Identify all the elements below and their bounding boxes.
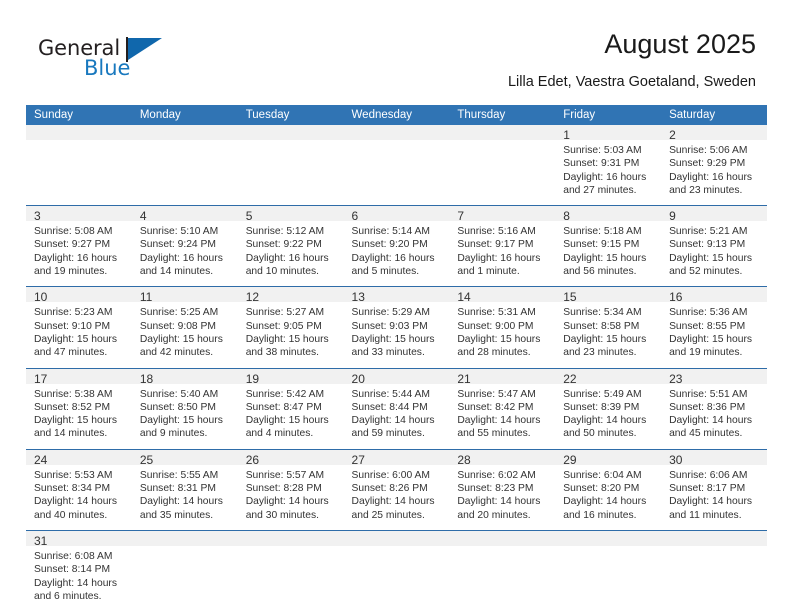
day-details: Sunrise: 5:16 AMSunset: 9:17 PMDaylight:… — [449, 221, 555, 286]
day-details: Sunrise: 5:36 AMSunset: 8:55 PMDaylight:… — [661, 302, 767, 367]
daylight-text-line1: Daylight: 14 hours — [352, 414, 444, 427]
sunset-text: Sunset: 8:34 PM — [34, 482, 126, 495]
day-details: Sunrise: 6:06 AMSunset: 8:17 PMDaylight:… — [661, 465, 767, 530]
daylight-text-line1: Daylight: 16 hours — [352, 252, 444, 265]
calendar-day-cell[interactable]: 28Sunrise: 6:02 AMSunset: 8:23 PMDayligh… — [449, 449, 555, 530]
calendar-day-cell[interactable]: 3Sunrise: 5:08 AMSunset: 9:27 PMDaylight… — [26, 206, 132, 287]
sunrise-text: Sunrise: 5:53 AM — [34, 469, 126, 482]
daylight-text-line1: Daylight: 14 hours — [246, 495, 338, 508]
sunset-text: Sunset: 9:24 PM — [140, 238, 232, 251]
calendar-week-row: 31Sunrise: 6:08 AMSunset: 8:14 PMDayligh… — [26, 530, 767, 611]
sunset-text: Sunset: 9:31 PM — [563, 157, 655, 170]
sunrise-text: Sunrise: 5:29 AM — [352, 306, 444, 319]
sunset-text: Sunset: 8:14 PM — [34, 563, 126, 576]
calendar-day-cell[interactable]: 7Sunrise: 5:16 AMSunset: 9:17 PMDaylight… — [449, 206, 555, 287]
sunset-text: Sunset: 8:58 PM — [563, 320, 655, 333]
daylight-text-line1: Daylight: 15 hours — [140, 414, 232, 427]
calendar-week-row: 24Sunrise: 5:53 AMSunset: 8:34 PMDayligh… — [26, 449, 767, 530]
day-number: 18 — [132, 369, 238, 384]
daylight-text-line1: Daylight: 15 hours — [563, 252, 655, 265]
day-number: 28 — [449, 450, 555, 465]
day-number: 19 — [238, 369, 344, 384]
calendar-day-cell-empty — [661, 530, 767, 611]
daylight-text-line2: and 4 minutes. — [246, 427, 338, 440]
calendar-week-row: 17Sunrise: 5:38 AMSunset: 8:52 PMDayligh… — [26, 368, 767, 449]
calendar-week-row: 3Sunrise: 5:08 AMSunset: 9:27 PMDaylight… — [26, 206, 767, 287]
day-details: Sunrise: 5:57 AMSunset: 8:28 PMDaylight:… — [238, 465, 344, 530]
sunrise-text: Sunrise: 5:34 AM — [563, 306, 655, 319]
sunset-text: Sunset: 8:52 PM — [34, 401, 126, 414]
day-details: Sunrise: 5:08 AMSunset: 9:27 PMDaylight:… — [26, 221, 132, 286]
daylight-text-line1: Daylight: 14 hours — [34, 495, 126, 508]
daylight-text-line2: and 11 minutes. — [669, 509, 761, 522]
daylight-text-line2: and 35 minutes. — [140, 509, 232, 522]
day-details: Sunrise: 5:53 AMSunset: 8:34 PMDaylight:… — [26, 465, 132, 530]
page-subtitle: Lilla Edet, Vaestra Goetaland, Sweden — [508, 74, 756, 90]
day-details: Sunrise: 5:38 AMSunset: 8:52 PMDaylight:… — [26, 384, 132, 449]
daylight-text-line1: Daylight: 15 hours — [34, 333, 126, 346]
day-number: 16 — [661, 287, 767, 302]
sunset-text: Sunset: 8:42 PM — [457, 401, 549, 414]
calendar-day-cell[interactable]: 19Sunrise: 5:42 AMSunset: 8:47 PMDayligh… — [238, 368, 344, 449]
calendar-day-cell[interactable]: 4Sunrise: 5:10 AMSunset: 9:24 PMDaylight… — [132, 206, 238, 287]
weekday-header-thursday: Thursday — [449, 105, 555, 125]
daylight-text-line2: and 27 minutes. — [563, 184, 655, 197]
day-number: 24 — [26, 450, 132, 465]
day-details — [344, 140, 450, 192]
daylight-text-line1: Daylight: 14 hours — [34, 577, 126, 590]
daylight-text-line1: Daylight: 16 hours — [246, 252, 338, 265]
sunset-text: Sunset: 8:23 PM — [457, 482, 549, 495]
calendar-day-cell[interactable]: 6Sunrise: 5:14 AMSunset: 9:20 PMDaylight… — [344, 206, 450, 287]
day-number — [661, 531, 767, 546]
calendar-day-cell-empty — [238, 125, 344, 206]
day-number: 22 — [555, 369, 661, 384]
day-number: 29 — [555, 450, 661, 465]
sunrise-text: Sunrise: 5:23 AM — [34, 306, 126, 319]
sunset-text: Sunset: 8:50 PM — [140, 401, 232, 414]
sunrise-text: Sunrise: 5:51 AM — [669, 388, 761, 401]
day-details: Sunrise: 5:34 AMSunset: 8:58 PMDaylight:… — [555, 302, 661, 367]
weekday-header-saturday: Saturday — [661, 105, 767, 125]
day-details — [449, 140, 555, 192]
day-number: 8 — [555, 206, 661, 221]
day-details: Sunrise: 5:12 AMSunset: 9:22 PMDaylight:… — [238, 221, 344, 286]
day-details: Sunrise: 5:27 AMSunset: 9:05 PMDaylight:… — [238, 302, 344, 367]
weekday-header-tuesday: Tuesday — [238, 105, 344, 125]
daylight-text-line1: Daylight: 16 hours — [563, 171, 655, 184]
daylight-text-line2: and 30 minutes. — [246, 509, 338, 522]
sunset-text: Sunset: 9:15 PM — [563, 238, 655, 251]
day-number — [238, 531, 344, 546]
logo-text-blue: Blue — [84, 56, 130, 80]
day-details — [661, 546, 767, 598]
daylight-text-line1: Daylight: 15 hours — [669, 252, 761, 265]
calendar-day-cell[interactable]: 2Sunrise: 5:06 AMSunset: 9:29 PMDaylight… — [661, 125, 767, 206]
sunset-text: Sunset: 8:26 PM — [352, 482, 444, 495]
calendar-day-cell[interactable]: 10Sunrise: 5:23 AMSunset: 9:10 PMDayligh… — [26, 287, 132, 368]
sunrise-text: Sunrise: 5:06 AM — [669, 144, 761, 157]
calendar-week-row: 1Sunrise: 5:03 AMSunset: 9:31 PMDaylight… — [26, 125, 767, 206]
day-number: 9 — [661, 206, 767, 221]
daylight-text-line1: Daylight: 14 hours — [352, 495, 444, 508]
day-number: 13 — [344, 287, 450, 302]
calendar-day-cell-empty — [344, 125, 450, 206]
daylight-text-line2: and 9 minutes. — [140, 427, 232, 440]
weekday-header-friday: Friday — [555, 105, 661, 125]
calendar-day-cell[interactable]: 24Sunrise: 5:53 AMSunset: 8:34 PMDayligh… — [26, 449, 132, 530]
daylight-text-line2: and 55 minutes. — [457, 427, 549, 440]
daylight-text-line1: Daylight: 14 hours — [563, 495, 655, 508]
general-blue-logo: General Blue — [38, 36, 218, 92]
daylight-text-line2: and 19 minutes. — [34, 265, 126, 278]
daylight-text-line2: and 59 minutes. — [352, 427, 444, 440]
day-number — [344, 125, 450, 140]
sunset-text: Sunset: 9:29 PM — [669, 157, 761, 170]
daylight-text-line1: Daylight: 14 hours — [563, 414, 655, 427]
day-details: Sunrise: 5:51 AMSunset: 8:36 PMDaylight:… — [661, 384, 767, 449]
calendar-day-cell-empty — [26, 125, 132, 206]
sunrise-text: Sunrise: 5:42 AM — [246, 388, 338, 401]
day-details — [555, 546, 661, 598]
daylight-text-line1: Daylight: 15 hours — [563, 333, 655, 346]
day-number: 30 — [661, 450, 767, 465]
daylight-text-line2: and 20 minutes. — [457, 509, 549, 522]
daylight-text-line1: Daylight: 15 hours — [669, 333, 761, 346]
daylight-text-line1: Daylight: 15 hours — [457, 333, 549, 346]
sunrise-text: Sunrise: 5:14 AM — [352, 225, 444, 238]
day-number: 6 — [344, 206, 450, 221]
day-number: 2 — [661, 125, 767, 140]
day-details: Sunrise: 5:06 AMSunset: 9:29 PMDaylight:… — [661, 140, 767, 205]
daylight-text-line1: Daylight: 14 hours — [457, 495, 549, 508]
day-number: 7 — [449, 206, 555, 221]
calendar-day-cell[interactable]: 22Sunrise: 5:49 AMSunset: 8:39 PMDayligh… — [555, 368, 661, 449]
day-details — [238, 140, 344, 192]
day-number: 4 — [132, 206, 238, 221]
weekday-header-monday: Monday — [132, 105, 238, 125]
calendar-day-cell[interactable]: 5Sunrise: 5:12 AMSunset: 9:22 PMDaylight… — [238, 206, 344, 287]
sunrise-text: Sunrise: 5:18 AM — [563, 225, 655, 238]
day-number — [449, 125, 555, 140]
calendar-day-cell[interactable]: 11Sunrise: 5:25 AMSunset: 9:08 PMDayligh… — [132, 287, 238, 368]
sunrise-text: Sunrise: 5:03 AM — [563, 144, 655, 157]
calendar-day-cell[interactable]: 27Sunrise: 6:00 AMSunset: 8:26 PMDayligh… — [344, 449, 450, 530]
day-number: 15 — [555, 287, 661, 302]
day-details: Sunrise: 5:44 AMSunset: 8:44 PMDaylight:… — [344, 384, 450, 449]
daylight-text-line2: and 19 minutes. — [669, 346, 761, 359]
daylight-text-line2: and 28 minutes. — [457, 346, 549, 359]
day-details: Sunrise: 6:00 AMSunset: 8:26 PMDaylight:… — [344, 465, 450, 530]
sunset-text: Sunset: 9:03 PM — [352, 320, 444, 333]
sunrise-text: Sunrise: 5:27 AM — [246, 306, 338, 319]
sunrise-text: Sunrise: 6:08 AM — [34, 550, 126, 563]
daylight-text-line1: Daylight: 14 hours — [457, 414, 549, 427]
logo-flag-icon — [128, 38, 162, 60]
daylight-text-line2: and 50 minutes. — [563, 427, 655, 440]
day-details — [26, 140, 132, 192]
page-title: August 2025 — [604, 29, 756, 60]
day-details: Sunrise: 5:47 AMSunset: 8:42 PMDaylight:… — [449, 384, 555, 449]
sunrise-text: Sunrise: 6:00 AM — [352, 469, 444, 482]
daylight-text-line2: and 14 minutes. — [34, 427, 126, 440]
day-number: 20 — [344, 369, 450, 384]
calendar-day-cell[interactable]: 25Sunrise: 5:55 AMSunset: 8:31 PMDayligh… — [132, 449, 238, 530]
day-number — [555, 531, 661, 546]
sunset-text: Sunset: 8:47 PM — [246, 401, 338, 414]
sunset-text: Sunset: 8:17 PM — [669, 482, 761, 495]
day-number — [132, 531, 238, 546]
daylight-text-line2: and 52 minutes. — [669, 265, 761, 278]
sunrise-text: Sunrise: 5:47 AM — [457, 388, 549, 401]
calendar-day-cell[interactable]: 13Sunrise: 5:29 AMSunset: 9:03 PMDayligh… — [344, 287, 450, 368]
daylight-text-line2: and 42 minutes. — [140, 346, 232, 359]
day-details: Sunrise: 5:21 AMSunset: 9:13 PMDaylight:… — [661, 221, 767, 286]
day-number — [132, 125, 238, 140]
calendar-day-cell-empty — [344, 530, 450, 611]
day-number: 3 — [26, 206, 132, 221]
calendar-day-cell[interactable]: 16Sunrise: 5:36 AMSunset: 8:55 PMDayligh… — [661, 287, 767, 368]
sunset-text: Sunset: 9:10 PM — [34, 320, 126, 333]
day-details: Sunrise: 5:23 AMSunset: 9:10 PMDaylight:… — [26, 302, 132, 367]
sunrise-text: Sunrise: 5:40 AM — [140, 388, 232, 401]
day-details: Sunrise: 5:29 AMSunset: 9:03 PMDaylight:… — [344, 302, 450, 367]
daylight-text-line2: and 56 minutes. — [563, 265, 655, 278]
weekday-header-wednesday: Wednesday — [344, 105, 450, 125]
sunset-text: Sunset: 9:08 PM — [140, 320, 232, 333]
calendar-day-cell-empty — [449, 530, 555, 611]
day-details: Sunrise: 6:08 AMSunset: 8:14 PMDaylight:… — [26, 546, 132, 611]
page-header: General Blue August 2025 Lilla Edet, Vae… — [0, 0, 792, 100]
daylight-text-line1: Daylight: 14 hours — [669, 495, 761, 508]
day-details: Sunrise: 5:18 AMSunset: 9:15 PMDaylight:… — [555, 221, 661, 286]
calendar-day-cell-empty — [132, 530, 238, 611]
sunset-text: Sunset: 9:00 PM — [457, 320, 549, 333]
calendar-day-cell-empty — [238, 530, 344, 611]
calendar-day-cell[interactable]: 12Sunrise: 5:27 AMSunset: 9:05 PMDayligh… — [238, 287, 344, 368]
sunset-text: Sunset: 8:20 PM — [563, 482, 655, 495]
sunrise-text: Sunrise: 5:31 AM — [457, 306, 549, 319]
day-number: 14 — [449, 287, 555, 302]
sunset-text: Sunset: 8:39 PM — [563, 401, 655, 414]
daylight-text-line2: and 23 minutes. — [669, 184, 761, 197]
daylight-text-line2: and 25 minutes. — [352, 509, 444, 522]
day-details: Sunrise: 5:03 AMSunset: 9:31 PMDaylight:… — [555, 140, 661, 205]
calendar-day-cell[interactable]: 17Sunrise: 5:38 AMSunset: 8:52 PMDayligh… — [26, 368, 132, 449]
daylight-text-line1: Daylight: 16 hours — [669, 171, 761, 184]
day-number — [26, 125, 132, 140]
sunrise-text: Sunrise: 5:38 AM — [34, 388, 126, 401]
daylight-text-line2: and 14 minutes. — [140, 265, 232, 278]
sunrise-text: Sunrise: 5:44 AM — [352, 388, 444, 401]
daylight-text-line1: Daylight: 14 hours — [140, 495, 232, 508]
day-details — [132, 546, 238, 598]
sunset-text: Sunset: 8:31 PM — [140, 482, 232, 495]
day-details: Sunrise: 5:10 AMSunset: 9:24 PMDaylight:… — [132, 221, 238, 286]
weekday-header-sunday: Sunday — [26, 105, 132, 125]
sunset-text: Sunset: 9:13 PM — [669, 238, 761, 251]
sunrise-text: Sunrise: 5:16 AM — [457, 225, 549, 238]
sunset-text: Sunset: 8:28 PM — [246, 482, 338, 495]
daylight-text-line2: and 33 minutes. — [352, 346, 444, 359]
day-number: 10 — [26, 287, 132, 302]
sunrise-text: Sunrise: 5:55 AM — [140, 469, 232, 482]
calendar-body: 1Sunrise: 5:03 AMSunset: 9:31 PMDaylight… — [26, 125, 767, 611]
calendar-day-cell-empty — [449, 125, 555, 206]
day-details: Sunrise: 6:02 AMSunset: 8:23 PMDaylight:… — [449, 465, 555, 530]
sunrise-text: Sunrise: 5:36 AM — [669, 306, 761, 319]
daylight-text-line1: Daylight: 14 hours — [669, 414, 761, 427]
sunrise-text: Sunrise: 5:25 AM — [140, 306, 232, 319]
sunset-text: Sunset: 9:17 PM — [457, 238, 549, 251]
daylight-text-line1: Daylight: 15 hours — [246, 333, 338, 346]
day-details: Sunrise: 5:40 AMSunset: 8:50 PMDaylight:… — [132, 384, 238, 449]
day-number: 26 — [238, 450, 344, 465]
day-details: Sunrise: 5:25 AMSunset: 9:08 PMDaylight:… — [132, 302, 238, 367]
daylight-text-line2: and 1 minute. — [457, 265, 549, 278]
day-details — [344, 546, 450, 598]
day-number — [344, 531, 450, 546]
daylight-text-line1: Daylight: 16 hours — [457, 252, 549, 265]
sunrise-text: Sunrise: 5:49 AM — [563, 388, 655, 401]
sunrise-text: Sunrise: 5:08 AM — [34, 225, 126, 238]
day-details — [132, 140, 238, 192]
daylight-text-line2: and 5 minutes. — [352, 265, 444, 278]
calendar-day-cell[interactable]: 23Sunrise: 5:51 AMSunset: 8:36 PMDayligh… — [661, 368, 767, 449]
calendar-day-cell[interactable]: 18Sunrise: 5:40 AMSunset: 8:50 PMDayligh… — [132, 368, 238, 449]
sunset-text: Sunset: 8:36 PM — [669, 401, 761, 414]
day-number: 1 — [555, 125, 661, 140]
daylight-text-line2: and 10 minutes. — [246, 265, 338, 278]
calendar-header-row: Sunday Monday Tuesday Wednesday Thursday… — [26, 105, 767, 125]
day-details: Sunrise: 5:55 AMSunset: 8:31 PMDaylight:… — [132, 465, 238, 530]
day-number — [238, 125, 344, 140]
day-number: 12 — [238, 287, 344, 302]
sunrise-text: Sunrise: 6:06 AM — [669, 469, 761, 482]
daylight-text-line1: Daylight: 15 hours — [34, 414, 126, 427]
calendar-day-cell[interactable]: 29Sunrise: 6:04 AMSunset: 8:20 PMDayligh… — [555, 449, 661, 530]
sunrise-text: Sunrise: 6:04 AM — [563, 469, 655, 482]
calendar-table: Sunday Monday Tuesday Wednesday Thursday… — [26, 105, 767, 611]
sunrise-text: Sunrise: 5:57 AM — [246, 469, 338, 482]
daylight-text-line2: and 47 minutes. — [34, 346, 126, 359]
sunrise-text: Sunrise: 5:21 AM — [669, 225, 761, 238]
calendar-day-cell[interactable]: 8Sunrise: 5:18 AMSunset: 9:15 PMDaylight… — [555, 206, 661, 287]
day-details: Sunrise: 5:31 AMSunset: 9:00 PMDaylight:… — [449, 302, 555, 367]
calendar-day-cell-empty — [555, 530, 661, 611]
calendar-day-cell[interactable]: 31Sunrise: 6:08 AMSunset: 8:14 PMDayligh… — [26, 530, 132, 611]
daylight-text-line1: Daylight: 15 hours — [246, 414, 338, 427]
daylight-text-line2: and 23 minutes. — [563, 346, 655, 359]
sunset-text: Sunset: 9:20 PM — [352, 238, 444, 251]
calendar-page: General Blue August 2025 Lilla Edet, Vae… — [0, 0, 792, 612]
daylight-text-line1: Daylight: 16 hours — [34, 252, 126, 265]
calendar-day-cell[interactable]: 9Sunrise: 5:21 AMSunset: 9:13 PMDaylight… — [661, 206, 767, 287]
day-number: 11 — [132, 287, 238, 302]
day-number: 17 — [26, 369, 132, 384]
sunset-text: Sunset: 9:22 PM — [246, 238, 338, 251]
day-number: 25 — [132, 450, 238, 465]
day-number: 27 — [344, 450, 450, 465]
daylight-text-line2: and 38 minutes. — [246, 346, 338, 359]
sunrise-text: Sunrise: 5:12 AM — [246, 225, 338, 238]
day-number: 21 — [449, 369, 555, 384]
daylight-text-line1: Daylight: 15 hours — [352, 333, 444, 346]
daylight-text-line1: Daylight: 16 hours — [140, 252, 232, 265]
calendar-grid: Sunday Monday Tuesday Wednesday Thursday… — [26, 105, 767, 611]
sunset-text: Sunset: 9:05 PM — [246, 320, 338, 333]
day-number — [449, 531, 555, 546]
calendar-week-row: 10Sunrise: 5:23 AMSunset: 9:10 PMDayligh… — [26, 287, 767, 368]
sunset-text: Sunset: 8:55 PM — [669, 320, 761, 333]
calendar-day-cell[interactable]: 20Sunrise: 5:44 AMSunset: 8:44 PMDayligh… — [344, 368, 450, 449]
calendar-day-cell-empty — [132, 125, 238, 206]
sunset-text: Sunset: 8:44 PM — [352, 401, 444, 414]
day-number: 23 — [661, 369, 767, 384]
calendar-day-cell[interactable]: 14Sunrise: 5:31 AMSunset: 9:00 PMDayligh… — [449, 287, 555, 368]
day-details: Sunrise: 5:14 AMSunset: 9:20 PMDaylight:… — [344, 221, 450, 286]
day-number: 31 — [26, 531, 132, 546]
day-details: Sunrise: 6:04 AMSunset: 8:20 PMDaylight:… — [555, 465, 661, 530]
day-details — [238, 546, 344, 598]
calendar-day-cell[interactable]: 21Sunrise: 5:47 AMSunset: 8:42 PMDayligh… — [449, 368, 555, 449]
daylight-text-line2: and 40 minutes. — [34, 509, 126, 522]
day-details: Sunrise: 5:49 AMSunset: 8:39 PMDaylight:… — [555, 384, 661, 449]
day-details: Sunrise: 5:42 AMSunset: 8:47 PMDaylight:… — [238, 384, 344, 449]
sunset-text: Sunset: 9:27 PM — [34, 238, 126, 251]
calendar-day-cell[interactable]: 26Sunrise: 5:57 AMSunset: 8:28 PMDayligh… — [238, 449, 344, 530]
calendar-day-cell[interactable]: 1Sunrise: 5:03 AMSunset: 9:31 PMDaylight… — [555, 125, 661, 206]
day-details — [449, 546, 555, 598]
day-number: 5 — [238, 206, 344, 221]
daylight-text-line2: and 16 minutes. — [563, 509, 655, 522]
sunrise-text: Sunrise: 5:10 AM — [140, 225, 232, 238]
daylight-text-line2: and 45 minutes. — [669, 427, 761, 440]
daylight-text-line1: Daylight: 15 hours — [140, 333, 232, 346]
calendar-day-cell[interactable]: 15Sunrise: 5:34 AMSunset: 8:58 PMDayligh… — [555, 287, 661, 368]
calendar-day-cell[interactable]: 30Sunrise: 6:06 AMSunset: 8:17 PMDayligh… — [661, 449, 767, 530]
sunrise-text: Sunrise: 6:02 AM — [457, 469, 549, 482]
daylight-text-line2: and 6 minutes. — [34, 590, 126, 603]
